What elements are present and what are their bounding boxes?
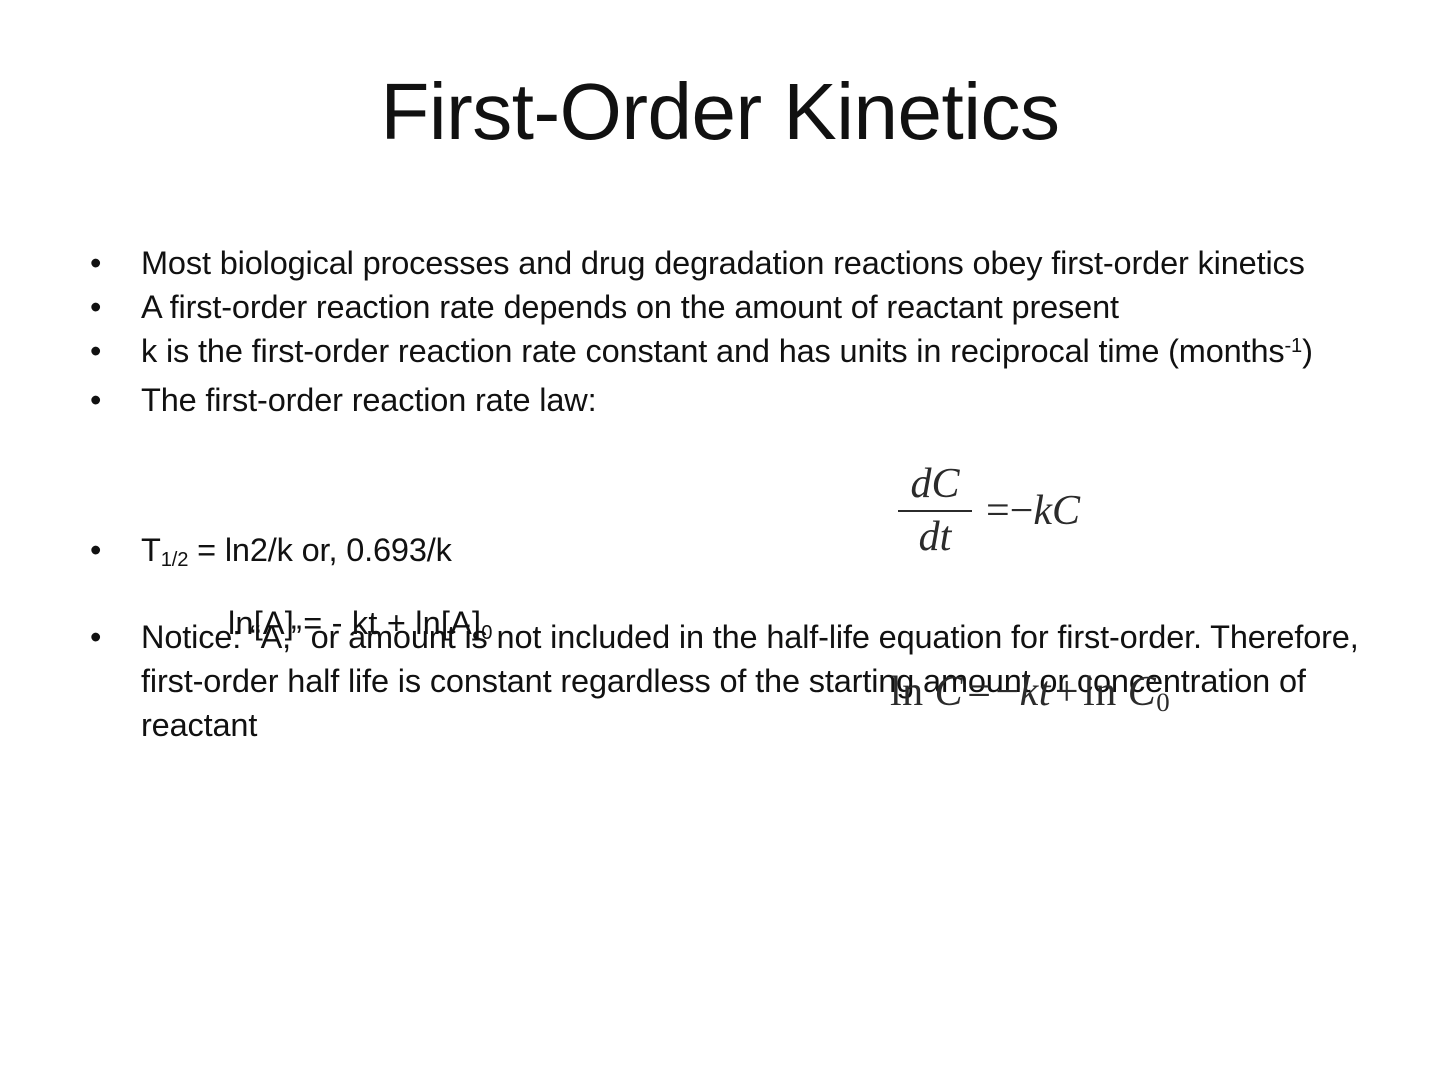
- ln-operator-1: ln: [890, 669, 924, 715]
- concentration-variable: C: [935, 669, 964, 715]
- bullet-item-1-text: Most biological processes and drug degra…: [141, 241, 1378, 285]
- equals-sign: =: [963, 669, 995, 715]
- bullet-item-3-text: k is the first-order reaction rate const…: [141, 329, 1378, 378]
- initial-concentration-variable: C: [1128, 669, 1157, 715]
- bullet-item-3: • k is the first-order reaction rate con…: [78, 329, 1378, 378]
- fraction-denominator: dt: [912, 515, 959, 560]
- fraction-numerator: dC: [903, 462, 966, 507]
- negative-sign: −: [995, 669, 1019, 715]
- equals-sign: =: [986, 488, 1010, 534]
- bullet-marker-icon: •: [90, 528, 110, 572]
- initial-concentration-subscript: 0: [1156, 687, 1170, 717]
- ln-operator-2: ln: [1083, 669, 1117, 715]
- bullet-item-3-text-main: k is the first-order reaction rate const…: [141, 333, 1284, 369]
- bullet-marker-icon: •: [90, 378, 110, 422]
- bullet-item-5-text: T1/2 = ln2/k or, 0.693/k: [141, 528, 1378, 577]
- term-kt: kt: [1020, 669, 1051, 715]
- half-life-subscript: 1/2: [161, 549, 189, 571]
- bullet-item-1: • Most biological processes and drug deg…: [78, 241, 1378, 285]
- bullet-marker-icon: •: [90, 329, 110, 373]
- page-title: First-Order Kinetics: [0, 64, 1440, 160]
- rhs-term-kc: kC: [1033, 488, 1080, 534]
- bullet-item-2: • A first-order reaction rate depends on…: [78, 285, 1378, 329]
- bullet-item-4: • The first-order reaction rate law:: [78, 378, 1378, 422]
- slide-canvas: First-Order Kinetics • Most biological p…: [0, 0, 1440, 1080]
- fraction-dc-dt: dC dt: [898, 462, 972, 560]
- integrated-rate-law-text-body: ln[A] = - kt + ln[A]: [228, 605, 481, 641]
- spacer-after-rate-law: [78, 422, 1378, 466]
- integrated-rate-law-text-subscript: 0: [481, 622, 492, 644]
- integrated-rate-law-text: ln[A] = - kt + ln[A]0: [228, 601, 493, 650]
- equation-differential-rate-law: dC dt =−kC: [898, 462, 1080, 560]
- half-life-expression: = ln2/k or, 0.693/k: [188, 532, 452, 568]
- equation-integrated-rate-law: ln C=−kt+ln C0: [890, 668, 1170, 716]
- bullet-list: • Most biological processes and drug deg…: [78, 241, 1378, 747]
- equation-right-hand-side: =−kC: [986, 487, 1080, 535]
- plus-sign: +: [1051, 669, 1083, 715]
- bullet-marker-icon: •: [90, 241, 110, 285]
- half-life-symbol: T: [141, 532, 161, 568]
- bullet-item-3-superscript: -1: [1284, 335, 1302, 357]
- negative-sign: −: [1010, 488, 1034, 534]
- bullet-item-4-text: The first-order reaction rate law:: [141, 378, 1378, 422]
- spacer-small: [78, 510, 1378, 528]
- bullet-marker-icon: •: [90, 615, 110, 659]
- bullet-marker-icon: •: [90, 285, 110, 329]
- bullet-item-3-text-tail: ): [1302, 333, 1313, 369]
- spacer-inline-equation: [78, 466, 1378, 510]
- bullet-item-2-text: A first-order reaction rate depends on t…: [141, 285, 1378, 329]
- bullet-item-5: • T1/2 = ln2/k or, 0.693/k: [78, 528, 1378, 577]
- fraction-bar: [898, 510, 972, 513]
